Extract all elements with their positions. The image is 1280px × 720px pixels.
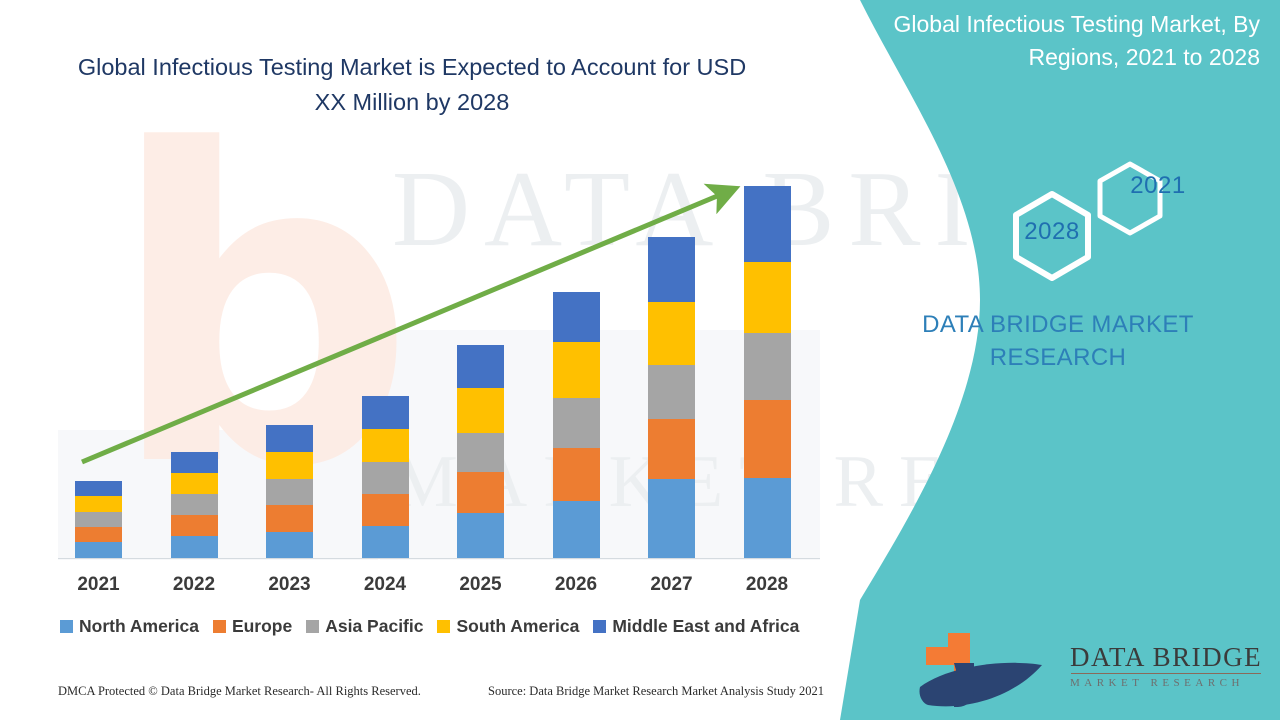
bar-2028: [744, 186, 791, 558]
bar-segment-2023-middle-east-and-africa: [266, 425, 313, 452]
brand-name: DATA BRIDGE MARKET RESEARCH: [860, 308, 1256, 374]
panel-title: Global Infectious Testing Market, By Reg…: [850, 8, 1260, 74]
bar-segment-2027-asia-pacific: [648, 365, 695, 419]
logo-sub-text: MARKET RESEARCH: [1070, 677, 1262, 689]
bar-segment-2021-europe: [75, 527, 122, 542]
bar-segment-2021-middle-east-and-africa: [75, 481, 122, 496]
bar-segment-2027-europe: [648, 419, 695, 479]
bar-segment-2026-europe: [553, 448, 600, 501]
company-logo-icon: [910, 625, 1060, 720]
bar-segment-2024-south-america: [362, 429, 409, 462]
legend-swatch-icon: [437, 620, 450, 633]
legend-swatch-icon: [60, 620, 73, 633]
x-label-2025: 2025: [441, 574, 521, 596]
bar-segment-2022-middle-east-and-africa: [171, 452, 218, 473]
legend-swatch-icon: [213, 620, 226, 633]
bar-segment-2024-asia-pacific: [362, 462, 409, 494]
company-logo-text: DATA BRIDGE MARKET RESEARCH: [1070, 642, 1262, 689]
bar-segment-2022-asia-pacific: [171, 494, 218, 515]
x-label-2021: 2021: [59, 574, 139, 596]
bar-segment-2027-middle-east-and-africa: [648, 237, 695, 302]
logo-main-text: DATA BRIDGE: [1070, 642, 1262, 672]
bar-segment-2028-south-america: [744, 262, 791, 333]
chart-legend: North AmericaEuropeAsia PacificSouth Ame…: [60, 616, 840, 637]
bar-segment-2025-south-america: [457, 388, 504, 433]
x-label-2024: 2024: [345, 574, 425, 596]
bar-2022: [171, 452, 218, 558]
bar-segment-2022-south-america: [171, 473, 218, 494]
bar-2023: [266, 425, 313, 558]
bar-segment-2022-europe: [171, 515, 218, 536]
bar-segment-2023-europe: [266, 505, 313, 532]
bar-segment-2025-asia-pacific: [457, 433, 504, 472]
legend-swatch-icon: [306, 620, 319, 633]
bar-segment-2024-north-america: [362, 526, 409, 558]
chart-x-axis: [58, 558, 820, 559]
legend-item-south-america[interactable]: South America: [437, 616, 579, 637]
bar-segment-2021-south-america: [75, 496, 122, 512]
bar-segment-2027-south-america: [648, 302, 695, 365]
legend-label: South America: [456, 616, 579, 637]
x-label-2027: 2027: [632, 574, 712, 596]
bar-segment-2023-asia-pacific: [266, 479, 313, 505]
bar-2026: [553, 292, 600, 558]
branding-panel: Global Infectious Testing Market, By Reg…: [830, 0, 1280, 720]
bar-segment-2024-europe: [362, 494, 409, 526]
x-label-2023: 2023: [250, 574, 330, 596]
logo-divider: [1071, 673, 1261, 674]
bar-segment-2028-europe: [744, 400, 791, 478]
bar-segment-2023-south-america: [266, 452, 313, 479]
footer-source: Source: Data Bridge Market Research Mark…: [488, 684, 824, 699]
growth-arrow-icon: [0, 0, 860, 600]
x-label-2028: 2028: [727, 574, 807, 596]
bar-segment-2026-south-america: [553, 342, 600, 398]
legend-swatch-icon: [593, 620, 606, 633]
stacked-bar-chart: 20212022202320242025202620272028: [0, 0, 860, 600]
footer-copyright: DMCA Protected © Data Bridge Market Rese…: [58, 684, 421, 699]
bar-segment-2021-asia-pacific: [75, 512, 122, 527]
bar-2027: [648, 237, 695, 558]
x-label-2026: 2026: [536, 574, 616, 596]
bar-segment-2026-north-america: [553, 501, 600, 558]
legend-item-north-america[interactable]: North America: [60, 616, 199, 637]
bar-segment-2024-middle-east-and-africa: [362, 396, 409, 429]
bar-segment-2026-asia-pacific: [553, 398, 600, 448]
bar-segment-2021-north-america: [75, 542, 122, 558]
bar-segment-2022-north-america: [171, 536, 218, 558]
bar-segment-2023-north-america: [266, 532, 313, 558]
x-label-2022: 2022: [154, 574, 234, 596]
bar-segment-2025-north-america: [457, 513, 504, 558]
legend-item-europe[interactable]: Europe: [213, 616, 292, 637]
legend-label: Middle East and Africa: [612, 616, 799, 637]
legend-item-middle-east-and-africa[interactable]: Middle East and Africa: [593, 616, 799, 637]
legend-item-asia-pacific[interactable]: Asia Pacific: [306, 616, 423, 637]
bar-2025: [457, 345, 504, 558]
bar-segment-2027-north-america: [648, 479, 695, 558]
legend-label: North America: [79, 616, 199, 637]
bar-segment-2028-middle-east-and-africa: [744, 186, 791, 262]
legend-label: Asia Pacific: [325, 616, 423, 637]
bar-segment-2028-asia-pacific: [744, 333, 791, 400]
infographic-canvas: b DATA BRIDGE MARKET RESEARCH Global Inf…: [0, 0, 1280, 720]
bar-segment-2025-middle-east-and-africa: [457, 345, 504, 388]
bar-segment-2025-europe: [457, 472, 504, 513]
bar-2024: [362, 396, 409, 558]
bar-2021: [75, 481, 122, 558]
legend-label: Europe: [232, 616, 292, 637]
bar-segment-2028-north-america: [744, 478, 791, 558]
bar-segment-2026-middle-east-and-africa: [553, 292, 600, 342]
